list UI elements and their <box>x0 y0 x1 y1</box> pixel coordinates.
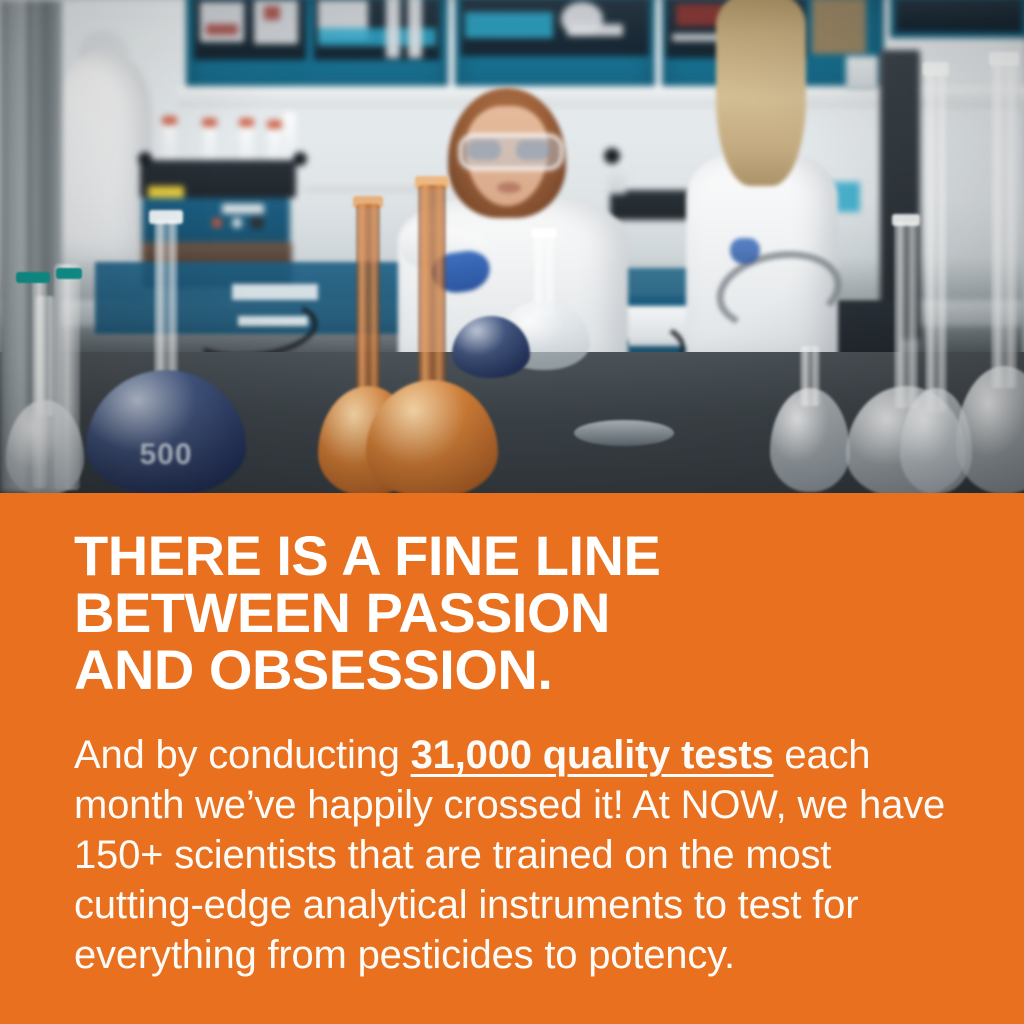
blue-nitrile-glove <box>730 238 760 264</box>
goggle-lens-left <box>467 140 501 160</box>
safety-goggles-icon <box>459 134 563 170</box>
flask-neck <box>800 346 820 406</box>
flask-500ml: 500 <box>86 210 246 493</box>
instrument-knob <box>250 216 264 230</box>
message-panel: THERE IS A FINE LINE BETWEEN PASSION AND… <box>0 493 1024 1024</box>
shelf-label <box>264 6 280 20</box>
flask-bulb-blue-liquid <box>452 316 530 378</box>
cabinet-left <box>186 0 448 90</box>
headline-line-1: THERE IS A FINE LINE <box>74 527 954 584</box>
stand-clamp <box>604 148 620 164</box>
pipette-teal-cap <box>56 268 82 279</box>
shelf-divider <box>386 0 400 58</box>
flask-clear-right-d <box>770 346 850 492</box>
rack-knob <box>138 152 152 166</box>
flask-neck <box>991 62 1017 388</box>
test-tube-cap <box>202 118 217 127</box>
flask-volume-label: 500 <box>139 438 192 472</box>
lab-photo: 500 <box>0 0 1024 493</box>
rear-stand <box>608 160 626 194</box>
shelf-box <box>200 2 244 42</box>
flask-clear-left <box>6 296 84 493</box>
cabinet-far-right <box>890 0 1024 38</box>
poster-canvas: 500 <box>0 0 1024 1024</box>
flask-bulb-blue-liquid <box>86 370 246 493</box>
flask-clear-right-c <box>956 52 1024 493</box>
shelf-divider <box>408 0 422 58</box>
flask-bulb <box>6 400 84 493</box>
flask-neck <box>925 72 947 412</box>
petri-dish <box>574 420 674 446</box>
test-tube-cap <box>162 116 177 125</box>
rack-knob <box>293 152 307 166</box>
headline-line-3: AND OBSESSION. <box>74 641 954 698</box>
shelf-carton <box>812 0 866 54</box>
flask-neck <box>418 185 446 407</box>
quality-tests-emphasis: 31,000 quality tests <box>411 733 774 777</box>
cabinet-middle <box>455 0 655 90</box>
cabinet-pane <box>896 0 1022 32</box>
right-scientist-hair <box>716 0 806 186</box>
flask-small-blue <box>452 292 530 378</box>
body-text-before: And by conducting <box>74 733 411 777</box>
body-paragraph: And by conducting 31,000 quality tests e… <box>74 730 946 980</box>
flask-neck <box>35 296 55 416</box>
center-scientist-mouth <box>497 182 521 193</box>
flask-bulb-amber <box>366 380 498 493</box>
shelf-teal-band <box>465 12 553 38</box>
wall-socket <box>846 56 878 90</box>
pipette-teal-cap <box>16 272 50 283</box>
headline: THERE IS A FINE LINE BETWEEN PASSION AND… <box>74 527 954 698</box>
test-tube-cap <box>239 118 254 127</box>
flask-bulb <box>956 366 1024 493</box>
goggle-lens-right <box>516 140 550 160</box>
shelf-label <box>206 24 238 35</box>
test-tube-cap <box>267 120 282 129</box>
shelf-box <box>567 24 623 36</box>
headline-line-2: BETWEEN PASSION <box>74 584 954 641</box>
